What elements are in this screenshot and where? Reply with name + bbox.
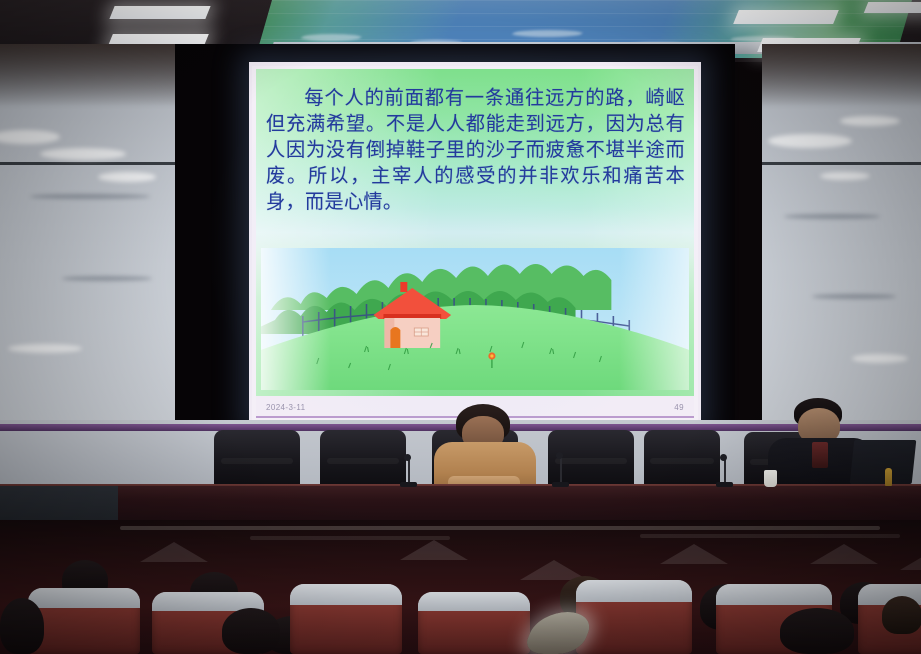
laptop[interactable] xyxy=(850,440,917,484)
seat-gable-6 xyxy=(900,550,921,570)
microphone-left-capsule xyxy=(404,454,411,461)
microphone-center-capsule xyxy=(556,452,563,459)
ceiling-light-3 xyxy=(733,10,839,24)
slide-body: 每个人的前面都有一条通往远方的路，崎岖但充满希望。不是人人都能走到远方，因为总有… xyxy=(256,69,694,396)
slide-page-number: 49 xyxy=(674,403,684,412)
water-bottle[interactable] xyxy=(885,468,892,486)
panel-chair-2[interactable] xyxy=(320,430,406,488)
microphone-center-stem xyxy=(560,456,562,484)
slide-paragraph: 每个人的前面都有一条通往远方的路，崎岖但充满希望。不是人人都能走到远方，因为总有… xyxy=(256,69,694,219)
lecture-hall-scene: 每个人的前面都有一条通往远方的路，崎岖但充满希望。不是人人都能走到远方，因为总有… xyxy=(0,0,921,654)
presenter-center xyxy=(430,404,540,496)
wall-right-top-shadow xyxy=(762,44,921,106)
audience-seat-a5[interactable] xyxy=(576,580,692,654)
audience-head-10 xyxy=(222,608,280,654)
paper-cup[interactable] xyxy=(764,470,777,487)
microphone-right-capsule xyxy=(720,454,727,461)
audience-head-13 xyxy=(882,596,921,634)
microphone-right-stem xyxy=(724,458,726,484)
projection-screen[interactable]: 每个人的前面都有一条通往远方的路，崎岖但充满希望。不是人人都能走到远方，因为总有… xyxy=(249,62,701,425)
house-on-hill-illustration xyxy=(261,248,689,390)
panel-chair-5[interactable] xyxy=(644,430,720,488)
slide-illustration xyxy=(261,248,689,390)
slide-date: 2024-3-11 xyxy=(266,403,305,412)
microphone-left-base xyxy=(400,482,417,487)
audience-head-12 xyxy=(780,608,854,654)
seat-gable-1 xyxy=(140,542,208,562)
audience-seat-a3[interactable] xyxy=(290,584,402,654)
microphone-left-stem xyxy=(408,458,410,484)
seat-gable-5 xyxy=(810,544,878,564)
panel-chair-1[interactable] xyxy=(214,430,300,488)
audience-seat-a1[interactable] xyxy=(28,588,140,654)
seat-gable-4 xyxy=(660,544,728,564)
seat-gable-2 xyxy=(400,540,468,560)
microphone-right-base xyxy=(716,482,733,487)
panelist-right-necktie xyxy=(812,442,828,468)
ceiling-light-5 xyxy=(864,2,921,13)
presentation-slide: 每个人的前面都有一条通往远方的路，崎岖但充满希望。不是人人都能走到远方，因为总有… xyxy=(252,66,698,421)
wall-left-top-shadow xyxy=(0,44,184,106)
audience-head-9 xyxy=(0,598,44,654)
ceiling-light-1 xyxy=(109,6,210,19)
microphone-center-base xyxy=(552,482,569,487)
audience-seat-a4[interactable] xyxy=(418,592,530,654)
